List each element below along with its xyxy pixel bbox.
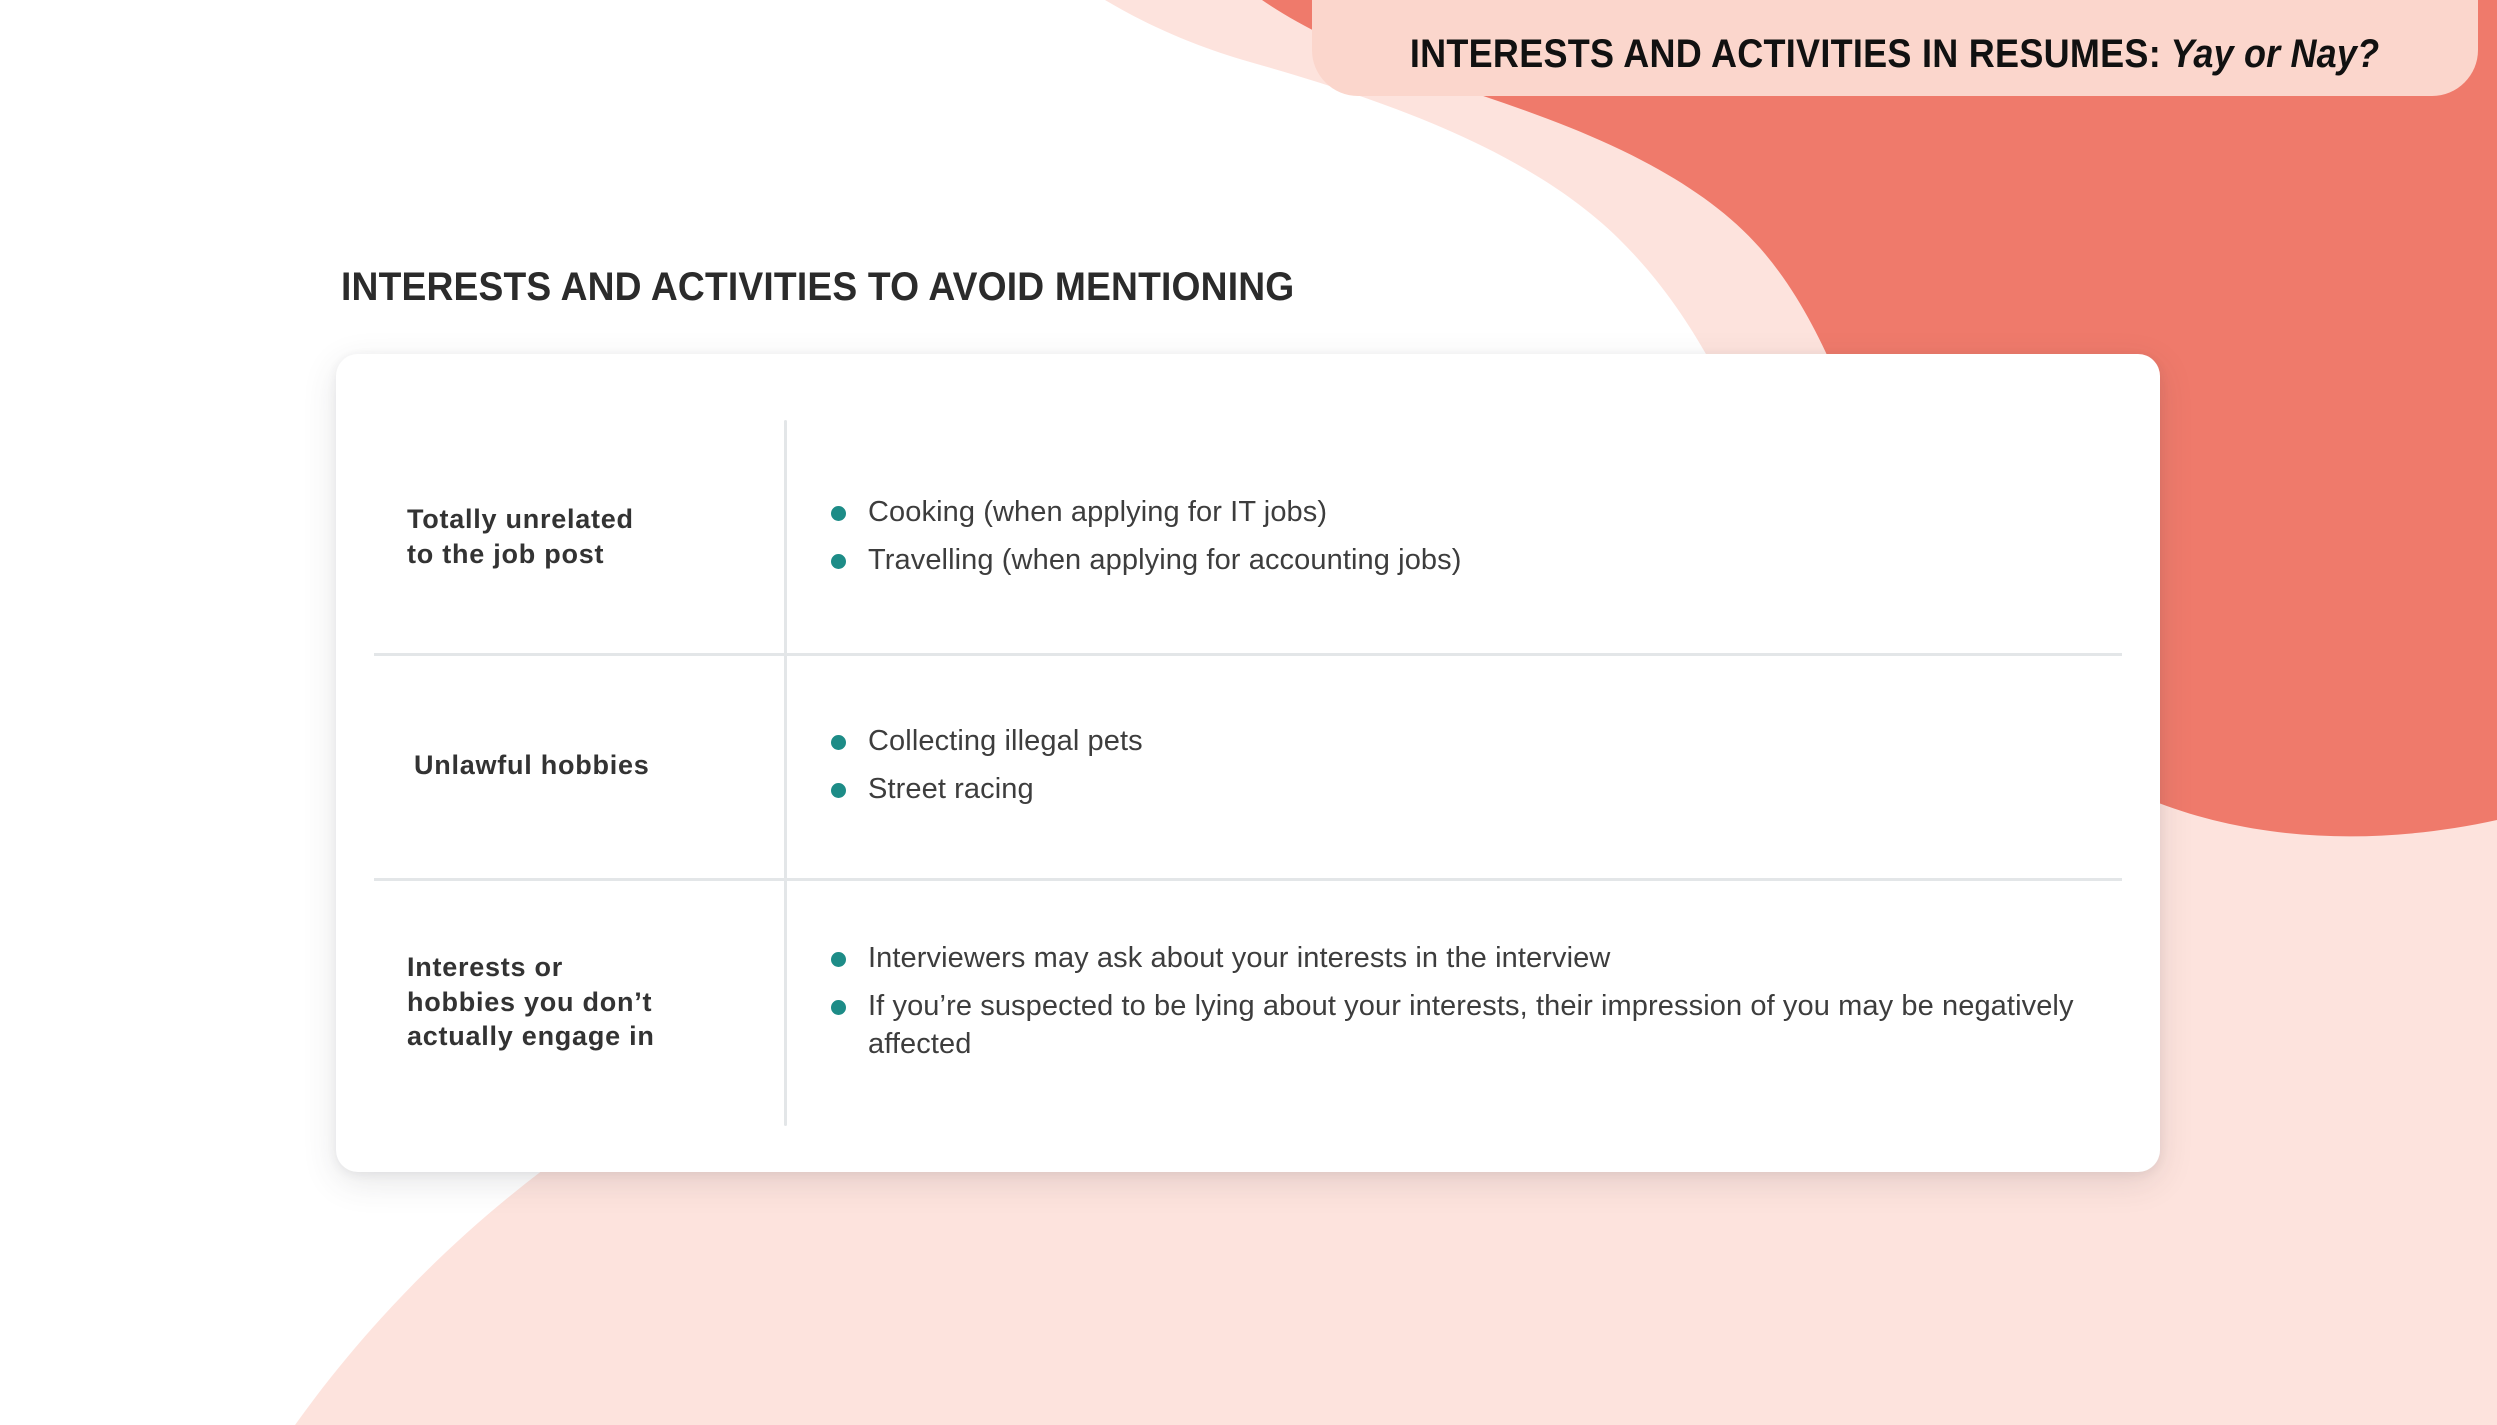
bullet-dot-icon	[831, 1000, 846, 1015]
bullet-dot-icon	[831, 554, 846, 569]
list-item-text: Street racing	[868, 771, 1034, 809]
list-item: Collecting illegal pets	[831, 723, 2132, 761]
slide-canvas: INTERESTS AND ACTIVITIES IN RESUMES: Yay…	[0, 0, 2497, 1425]
table-row: Unlawful hobbies Collecting illegal pets…	[336, 653, 2160, 878]
table-row-label-cell: Unlawful hobbies	[336, 653, 784, 878]
table-row-items-cell: Interviewers may ask about your interest…	[784, 878, 2160, 1126]
table-row-items-cell: Cooking (when applying for IT jobs) Trav…	[784, 420, 2160, 653]
page-title: INTERESTS AND ACTIVITIES TO AVOID MENTIO…	[341, 265, 1294, 310]
bullet-dot-icon	[831, 952, 846, 967]
banner-text-wrap: INTERESTS AND ACTIVITIES IN RESUMES: Yay…	[1410, 34, 2379, 74]
banner-sub-title: Yay or Nay?	[2161, 32, 2379, 76]
table-row-label: Totally unrelatedto the job post	[407, 502, 634, 571]
list-item: If you’re suspected to be lying about yo…	[831, 988, 2132, 1063]
table-row-label-cell: Totally unrelatedto the job post	[336, 420, 784, 653]
list-item-text: If you’re suspected to be lying about yo…	[868, 988, 2090, 1063]
list-item: Interviewers may ask about your interest…	[831, 940, 2132, 978]
table-row-label-cell: Interests orhobbies you don’tactually en…	[336, 878, 784, 1126]
list-item-text: Interviewers may ask about your interest…	[868, 940, 1610, 978]
list-item-text: Cooking (when applying for IT jobs)	[868, 494, 1327, 532]
header-banner: INTERESTS AND ACTIVITIES IN RESUMES: Yay…	[1312, 0, 2478, 96]
bullet-dot-icon	[831, 783, 846, 798]
content-card: Totally unrelatedto the job post Cooking…	[336, 354, 2160, 1172]
list-item: Street racing	[831, 771, 2132, 809]
avoid-table: Totally unrelatedto the job post Cooking…	[336, 354, 2160, 1172]
table-row-label: Unlawful hobbies	[414, 748, 650, 783]
table-row-items-cell: Collecting illegal pets Street racing	[784, 653, 2160, 878]
list-item: Cooking (when applying for IT jobs)	[831, 494, 2132, 532]
list-item-text: Collecting illegal pets	[868, 723, 1143, 761]
banner-main-title: INTERESTS AND ACTIVITIES IN RESUMES:	[1410, 32, 2161, 76]
bullet-dot-icon	[831, 506, 846, 521]
bullet-dot-icon	[831, 735, 846, 750]
table-row: Interests orhobbies you don’tactually en…	[336, 878, 2160, 1126]
table-row-label: Interests orhobbies you don’tactually en…	[407, 950, 655, 1054]
list-item-text: Travelling (when applying for accounting…	[868, 542, 1462, 580]
table-row: Totally unrelatedto the job post Cooking…	[336, 420, 2160, 653]
list-item: Travelling (when applying for accounting…	[831, 542, 2132, 580]
